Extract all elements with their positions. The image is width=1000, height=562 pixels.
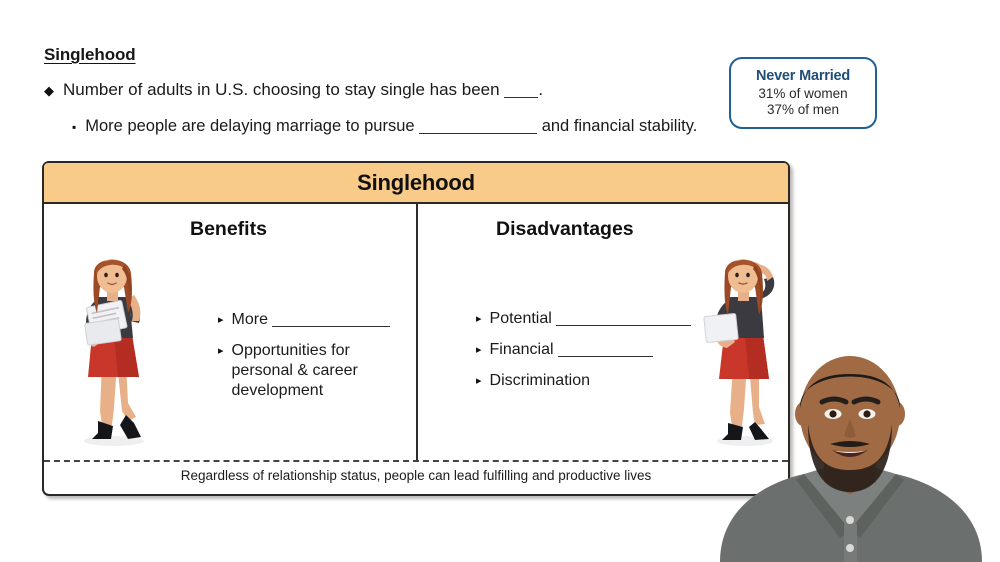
list-item-text: Discrimination [490,371,590,391]
list-item-label: More [232,311,273,328]
table-header-band: Singlehood [44,163,788,204]
arrow-bullet-icon: ▸ [218,341,224,361]
presenter-video-overlay [700,352,1000,562]
square-bullet-icon: ▪ [72,117,76,138]
column-divider [416,202,418,460]
column-title-disadvantages: Disadvantages [496,218,634,241]
woman-holding-papers-illustration [62,243,160,453]
list-item: ▸ More [218,310,408,330]
outline-bullet-level-1: ◆ Number of adults in U.S. choosing to s… [44,80,543,102]
list-item-label: Financial [490,341,558,358]
bullet2-blank [419,133,537,134]
diamond-bullet-icon: ◆ [44,80,54,102]
arrow-bullet-icon: ▸ [476,340,482,360]
outline-bullet-level-1-text: Number of adults in U.S. choosing to sta… [63,80,543,100]
list-item-text: More [232,310,391,330]
list-item-text: Financial [490,340,653,360]
never-married-callout: Never Married 31% of women 37% of men [729,57,877,129]
list-item-label: Potential [490,310,557,327]
page-title: Singlehood [44,45,136,65]
bullet1-text-after: . [538,80,543,99]
footer-dashed-separator [44,460,788,462]
arrow-bullet-icon: ▸ [476,371,482,391]
callout-title: Never Married [756,68,850,84]
callout-stat-women: 31% of women [758,86,847,102]
list-item-blank [556,325,691,326]
list-item-text: Potential [490,309,692,329]
benefits-list: ▸ More ▸ Opportunities for personal & ca… [218,310,408,412]
outline-bullet-level-2-text: More people are delaying marriage to pur… [85,117,697,136]
column-title-benefits: Benefits [190,218,267,241]
list-item-blank [272,326,390,327]
bullet2-text-before: More people are delaying marriage to pur… [85,117,419,135]
bullet1-text-before: Number of adults in U.S. choosing to sta… [63,80,504,99]
arrow-bullet-icon: ▸ [218,310,224,330]
callout-stat-men: 37% of men [767,102,839,118]
list-item-text: Opportunities for personal & career deve… [232,341,408,401]
bullet2-text-after: and financial stability. [537,117,697,135]
outline-bullet-level-2: ▪ More people are delaying marriage to p… [72,117,697,138]
table-footer-note: Regardless of relationship status, peopl… [44,468,788,483]
table-header-title: Singlehood [357,170,475,196]
slide-canvas: Singlehood ◆ Number of adults in U.S. ch… [0,0,1000,562]
list-item-blank [558,356,653,357]
list-item: ▸ Opportunities for personal & career de… [218,341,408,401]
arrow-bullet-icon: ▸ [476,309,482,329]
bullet1-blank [504,97,538,98]
